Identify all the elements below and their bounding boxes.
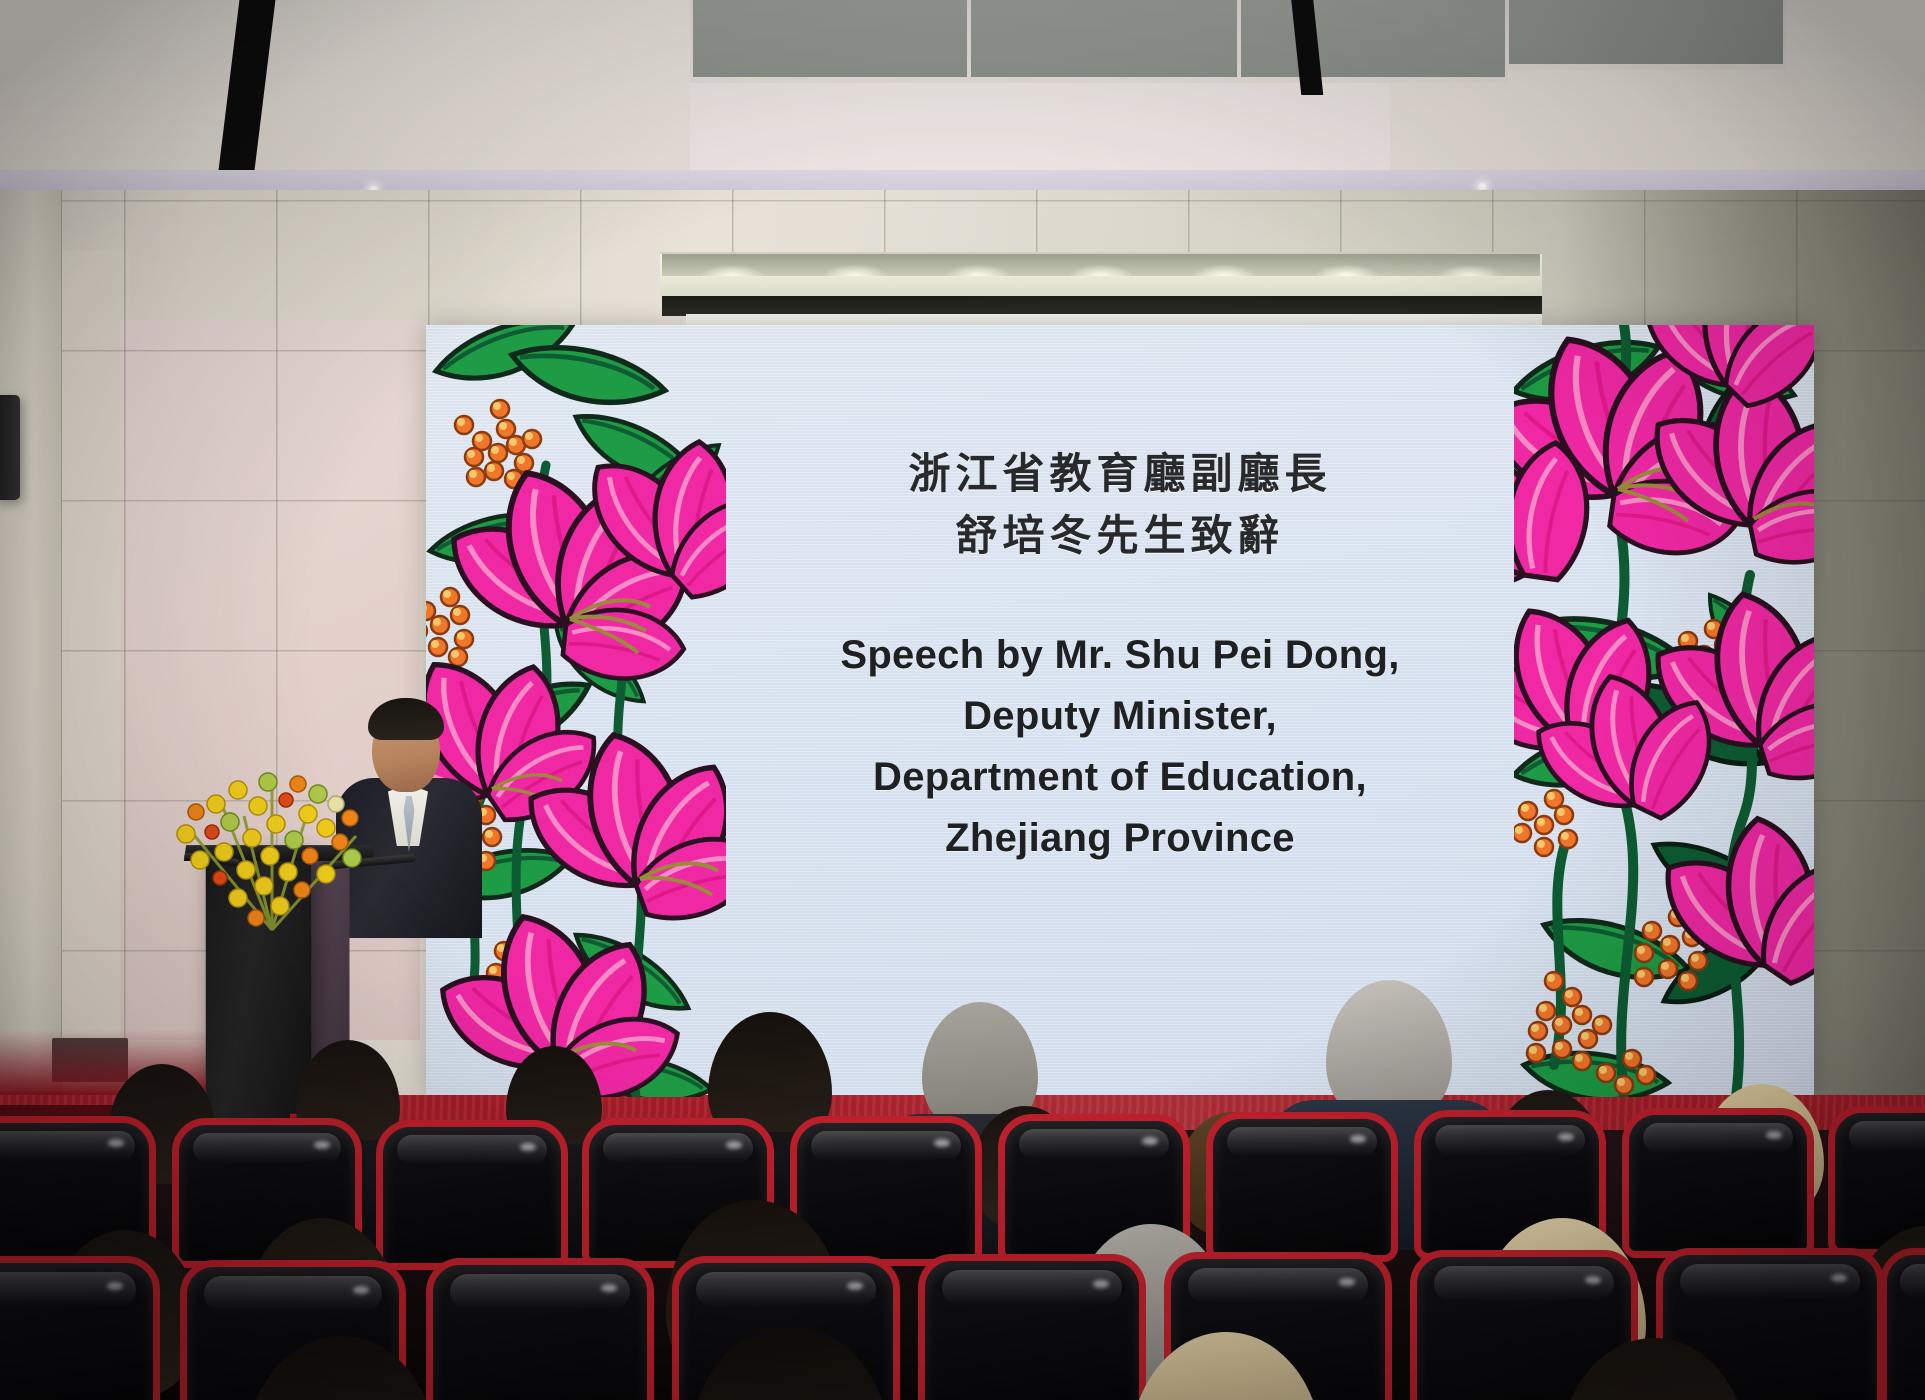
auditorium-chair[interactable]: [426, 1258, 654, 1400]
led-presentation-screen[interactable]: 浙江省教育廳副廳長 舒培冬先生致辭 Speech by Mr. Shu Pei …: [426, 325, 1814, 1097]
slide-english-line-3: Department of Education,: [840, 747, 1399, 808]
auditorium-chair[interactable]: [376, 1120, 568, 1270]
valance-dark-band: [662, 296, 1542, 316]
podium-flower-arrangement: [160, 760, 390, 935]
slide-english-block: Speech by Mr. Shu Pei Dong, Deputy Minis…: [840, 625, 1399, 868]
slide-chinese-line-2: 舒培冬先生致辭: [955, 505, 1284, 567]
ceiling-air-grille: [1238, 0, 1508, 83]
auditorium-chair[interactable]: [1622, 1108, 1814, 1258]
auditorium-chair[interactable]: [0, 1256, 160, 1400]
slide-chinese-line-1: 浙江省教育廳副廳長: [908, 443, 1331, 505]
wall-column: [0, 190, 62, 1150]
slide-english-line-1: Speech by Mr. Shu Pei Dong,: [840, 625, 1399, 686]
auditorium-scene: 浙江省教育廳副廳長 舒培冬先生致辭 Speech by Mr. Shu Pei …: [0, 0, 1925, 1400]
ceiling-air-grille: [968, 0, 1240, 83]
speaker-hair: [368, 698, 444, 740]
valance-light-strip: [662, 254, 1540, 276]
slide-english-line-2: Deputy Minister,: [840, 686, 1399, 747]
auditorium-chair[interactable]: [1206, 1112, 1398, 1262]
ceiling-air-grille: [1506, 0, 1786, 70]
audience-section: [0, 1130, 1925, 1400]
wall-mounted-speaker: [0, 395, 20, 500]
auditorium-chair[interactable]: [918, 1254, 1146, 1400]
auditorium-chair[interactable]: [1880, 1248, 1925, 1400]
slide-text-block: 浙江省教育廳副廳長 舒培冬先生致辭 Speech by Mr. Shu Pei …: [426, 325, 1814, 1097]
slide-english-line-4: Zhejiang Province: [840, 808, 1399, 869]
ceiling-air-grille: [690, 0, 970, 83]
